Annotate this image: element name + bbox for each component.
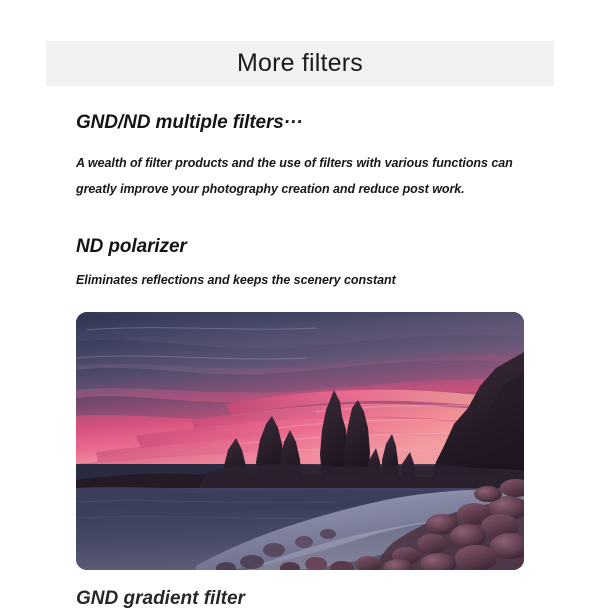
page-root: More filters GND/ND multiple filters··· … [0,0,600,600]
page-title: More filters [237,51,363,76]
section-body-gnd-nd: A wealth of filter products and the use … [76,150,536,202]
section-heading-clipped: GND gradient filter [76,588,245,610]
sunset-seascape-illustration [76,312,524,570]
section-subtext-nd-polarizer: Eliminates reflections and keeps the sce… [76,273,396,287]
product-sample-photo [76,312,524,570]
section-heading-nd-polarizer: ND polarizer [76,236,187,258]
section-heading-gnd-nd: GND/ND multiple filters··· [76,112,302,134]
page-header-banner: More filters [46,41,554,86]
